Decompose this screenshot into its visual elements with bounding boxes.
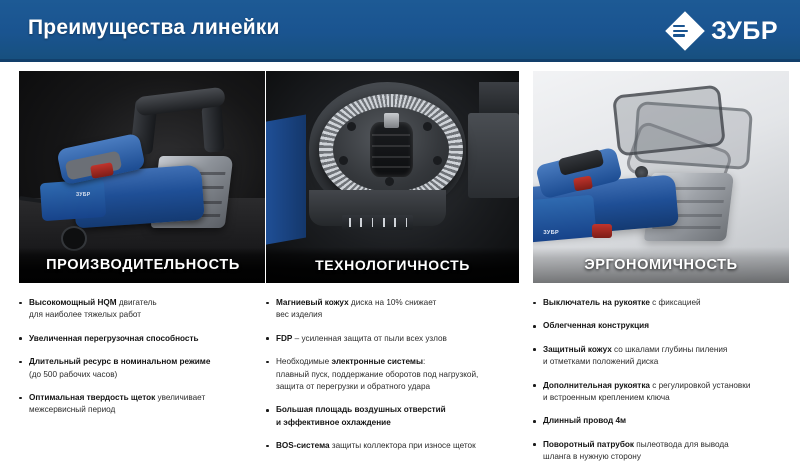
feature-column-ergonomics: ЗУБР ЭРГОНОМИЧНОСТЬ Выключатель на рукоя… xyxy=(532,70,790,475)
feature-column-technology: ТЕХНОЛОГИЧНОСТЬ Магниевый кожух диска на… xyxy=(265,70,520,464)
feature-column-performance: ЗУБР ПРОИЗВОДИТЕЛЬНОСТЬ Высокомощный HQM… xyxy=(18,70,268,428)
list-item: Необходимые электронные системы:плавный … xyxy=(265,356,520,393)
list-item: Оптимальная твердость щеток увеличиваетм… xyxy=(18,392,268,417)
list-item: Магниевый кожух диска на 10% снижаетвес … xyxy=(265,297,520,322)
brand-logo-text: ЗУБР xyxy=(711,17,778,46)
bullet-list-technology: Магниевый кожух диска на 10% снижаетвес … xyxy=(265,297,520,453)
list-item: Большая площадь воздушных отверстийи эфф… xyxy=(265,404,520,429)
page-title: Преимущества линейки xyxy=(28,16,280,40)
product-photo-label: ЗУБР xyxy=(543,230,559,236)
feature-columns: ЗУБР ПРОИЗВОДИТЕЛЬНОСТЬ Высокомощный HQM… xyxy=(0,70,800,450)
list-item: FDP – усиленная защита от пыли всех узло… xyxy=(265,333,520,345)
card-caption-ergonomics: ЭРГОНОМИЧНОСТЬ xyxy=(584,257,737,273)
list-item: Высокомощный HQM двигательдля наиболее т… xyxy=(18,297,268,322)
feature-card-ergonomics: ЗУБР ЭРГОНОМИЧНОСТЬ xyxy=(532,70,790,284)
list-item: Выключатель на рукоятке с фиксацией xyxy=(532,297,790,309)
list-item: Длинный провод 4м xyxy=(532,415,790,427)
bullet-list-performance: Высокомощный HQM двигательдля наиболее т… xyxy=(18,297,268,417)
slide-root: Преимущества линейки ЗУБР xyxy=(0,0,800,450)
zubr-diamond-arrow-icon xyxy=(668,14,702,48)
feature-card-performance: ЗУБР ПРОИЗВОДИТЕЛЬНОСТЬ xyxy=(18,70,268,284)
brand-logo: ЗУБР xyxy=(668,13,778,49)
list-item: Облегченная конструкция xyxy=(532,320,790,332)
card-caption-bar: ТЕХНОЛОГИЧНОСТЬ xyxy=(266,247,519,283)
list-item: Дополнительная рукоятка с регулировкой у… xyxy=(532,380,790,405)
list-item: Увеличенная перегрузочная способность xyxy=(18,333,268,345)
list-item: BOS-система защиты коллектора при износе… xyxy=(265,440,520,452)
card-caption-bar: ЭРГОНОМИЧНОСТЬ xyxy=(533,247,789,283)
slide-header: Преимущества линейки ЗУБР xyxy=(0,0,800,62)
feature-card-technology: ТЕХНОЛОГИЧНОСТЬ xyxy=(265,70,520,284)
product-photo-label: ЗУБР xyxy=(76,192,91,198)
list-item: Поворотный патрубок пылеотвода для вывод… xyxy=(532,439,790,464)
card-caption-performance: ПРОИЗВОДИТЕЛЬНОСТЬ xyxy=(46,257,240,273)
card-caption-technology: ТЕХНОЛОГИЧНОСТЬ xyxy=(315,257,470,273)
bullet-list-ergonomics: Выключатель на рукоятке с фиксацией Обле… xyxy=(532,297,790,464)
list-item: Длительный ресурс в номинальном режиме(д… xyxy=(18,356,268,381)
card-caption-bar: ПРОИЗВОДИТЕЛЬНОСТЬ xyxy=(19,247,267,283)
list-item: Защитный кожух со шкалами глубины пилени… xyxy=(532,344,790,369)
